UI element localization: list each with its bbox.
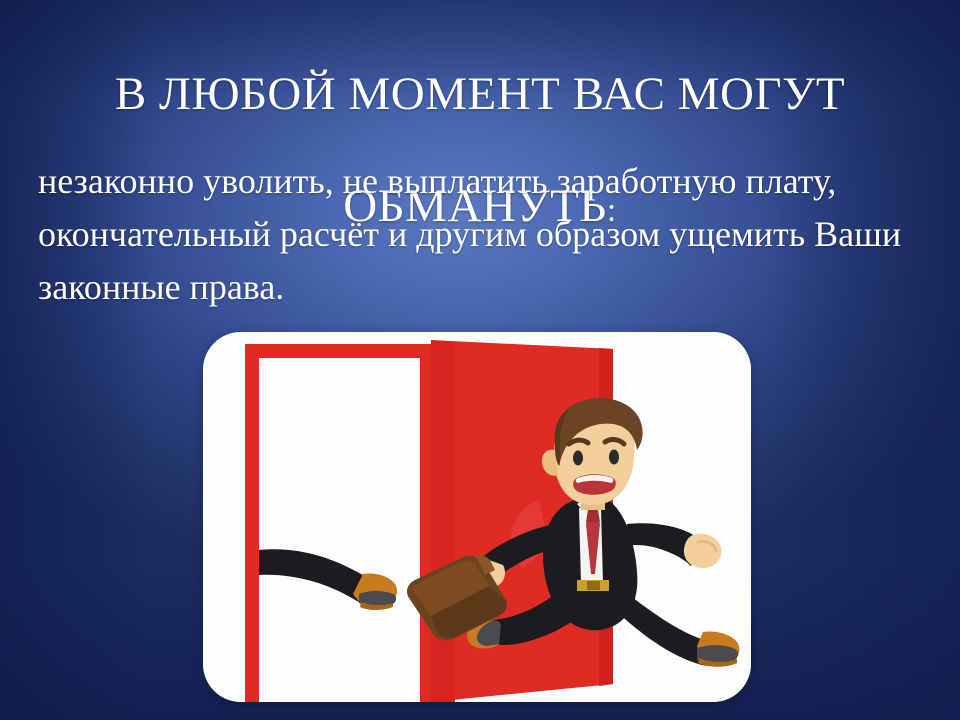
- eye-left: [573, 451, 583, 466]
- slide-body-text: незаконно уволить, не выплатить заработн…: [38, 155, 918, 314]
- eye-right: [609, 450, 619, 465]
- illustration-businessman-kicked-out: [203, 332, 751, 702]
- illustration-card: [203, 332, 751, 702]
- presentation-slide: В ЛЮБОЙ МОМЕНТ ВАС МОГУТ ОБМАНУТЬ: незак…: [0, 0, 960, 720]
- slide-title-line-1: В ЛЮБОЙ МОМЕНТ ВАС МОГУТ: [115, 68, 845, 120]
